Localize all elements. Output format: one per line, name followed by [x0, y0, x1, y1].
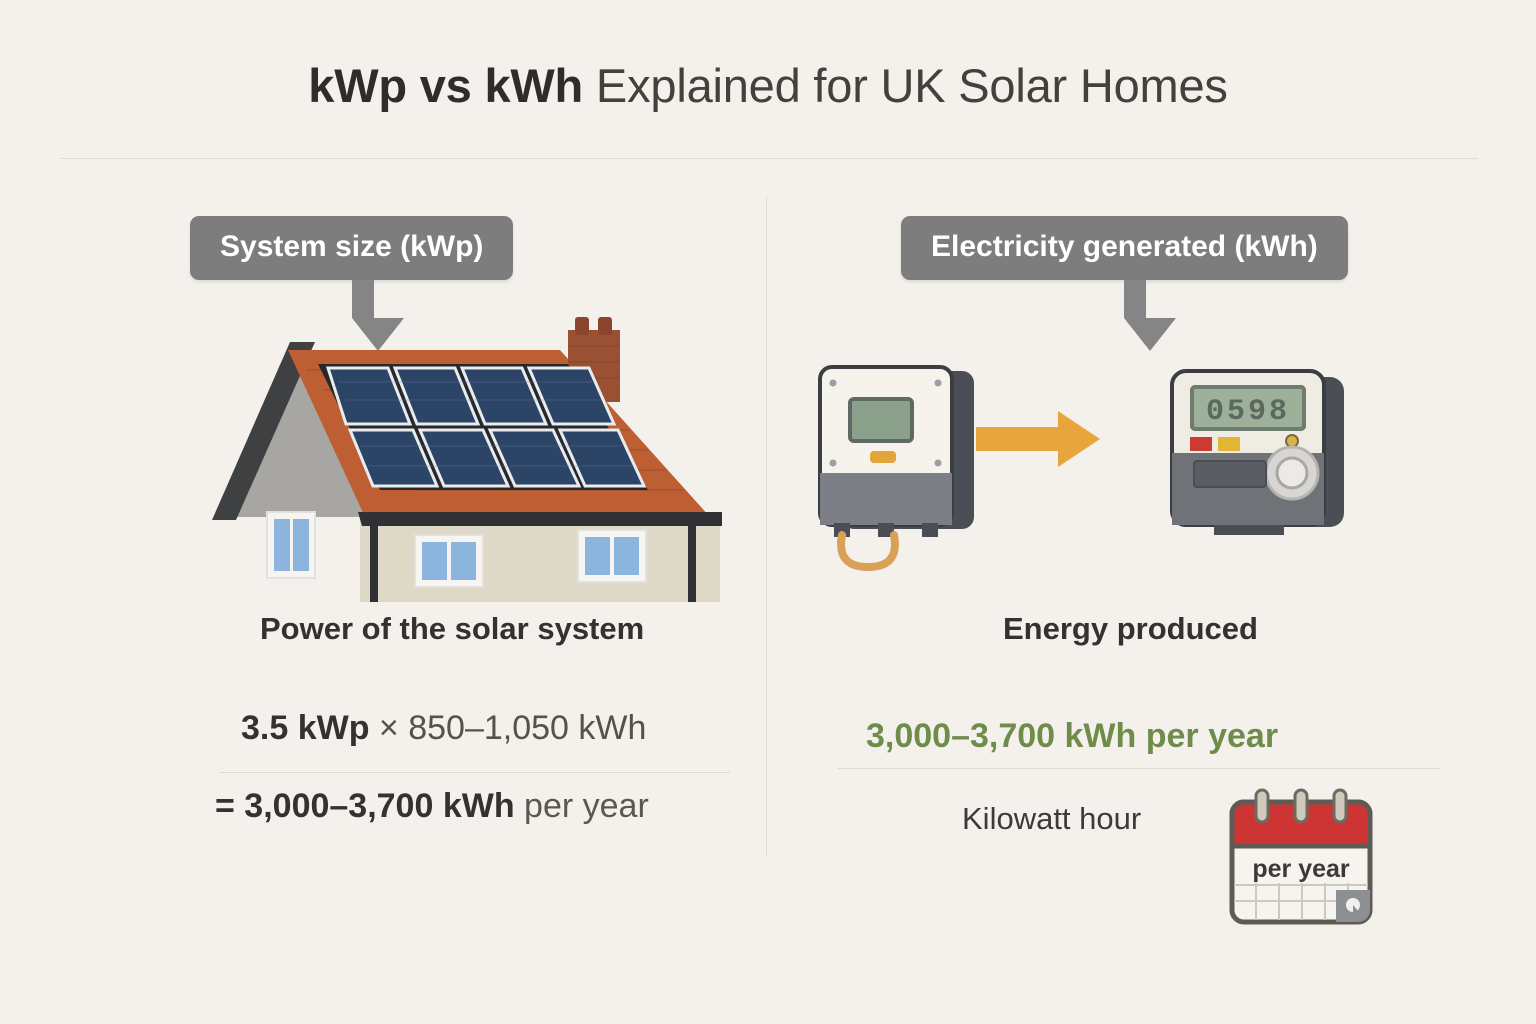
house-illustration — [210, 312, 770, 602]
calendar-icon: per year — [1232, 790, 1370, 922]
window-front-right — [578, 530, 646, 582]
solar-panel-row-2 — [350, 430, 644, 486]
energy-value: 3,000–3,700 kWh per year — [866, 717, 1278, 756]
electricity-meter-icon: 0598 — [1172, 371, 1344, 535]
window-gable — [267, 512, 315, 578]
electricity-generated-badge[interactable]: Electricity generated (kWh) — [901, 216, 1348, 280]
kilowatt-hour-label: Kilowatt hour — [962, 801, 1141, 837]
formula-yield-range: × 850–1,050 kWh — [369, 709, 646, 747]
formula-result-unit: per year — [515, 787, 649, 825]
calendar-label: per year — [1252, 855, 1350, 883]
chimney-pot-2 — [598, 317, 612, 335]
right-badge-block: Electricity generated (kWh) — [901, 216, 1348, 280]
inverter-meter-illustration: 0598 — [790, 355, 1410, 585]
left-column: System size (kWp) — [60, 0, 760, 1024]
downpipe-right — [688, 522, 696, 602]
formula-line-2: = 3,000–3,700 kWh per year — [215, 787, 649, 826]
formula-kwp-value: 3.5 kWp — [241, 709, 369, 747]
formula-divider — [220, 772, 730, 773]
meter-button-red — [1190, 437, 1212, 451]
meter-button-yellow — [1218, 437, 1240, 451]
chimney-pot-1 — [575, 317, 589, 335]
right-caption: Energy produced — [1003, 611, 1258, 647]
window-front-left — [415, 535, 483, 587]
downpipe-left — [370, 522, 378, 602]
meter-display-value: 0598 — [1206, 395, 1290, 429]
infographic-canvas: kWp vs kWh Explained for UK Solar Homes … — [0, 0, 1536, 1024]
calendar-illustration: per year — [1222, 788, 1382, 930]
fascia — [358, 512, 722, 526]
inverter-icon — [820, 367, 974, 567]
energy-value-divider — [838, 768, 1440, 769]
flow-arrow-icon — [976, 411, 1100, 467]
left-caption: Power of the solar system — [260, 611, 644, 647]
formula-result-value: = 3,000–3,700 kWh — [215, 787, 515, 825]
system-size-badge[interactable]: System size (kWp) — [190, 216, 513, 280]
formula-line-1: 3.5 kWp × 850–1,050 kWh — [241, 709, 646, 748]
left-badge-block: System size (kWp) — [190, 216, 513, 280]
